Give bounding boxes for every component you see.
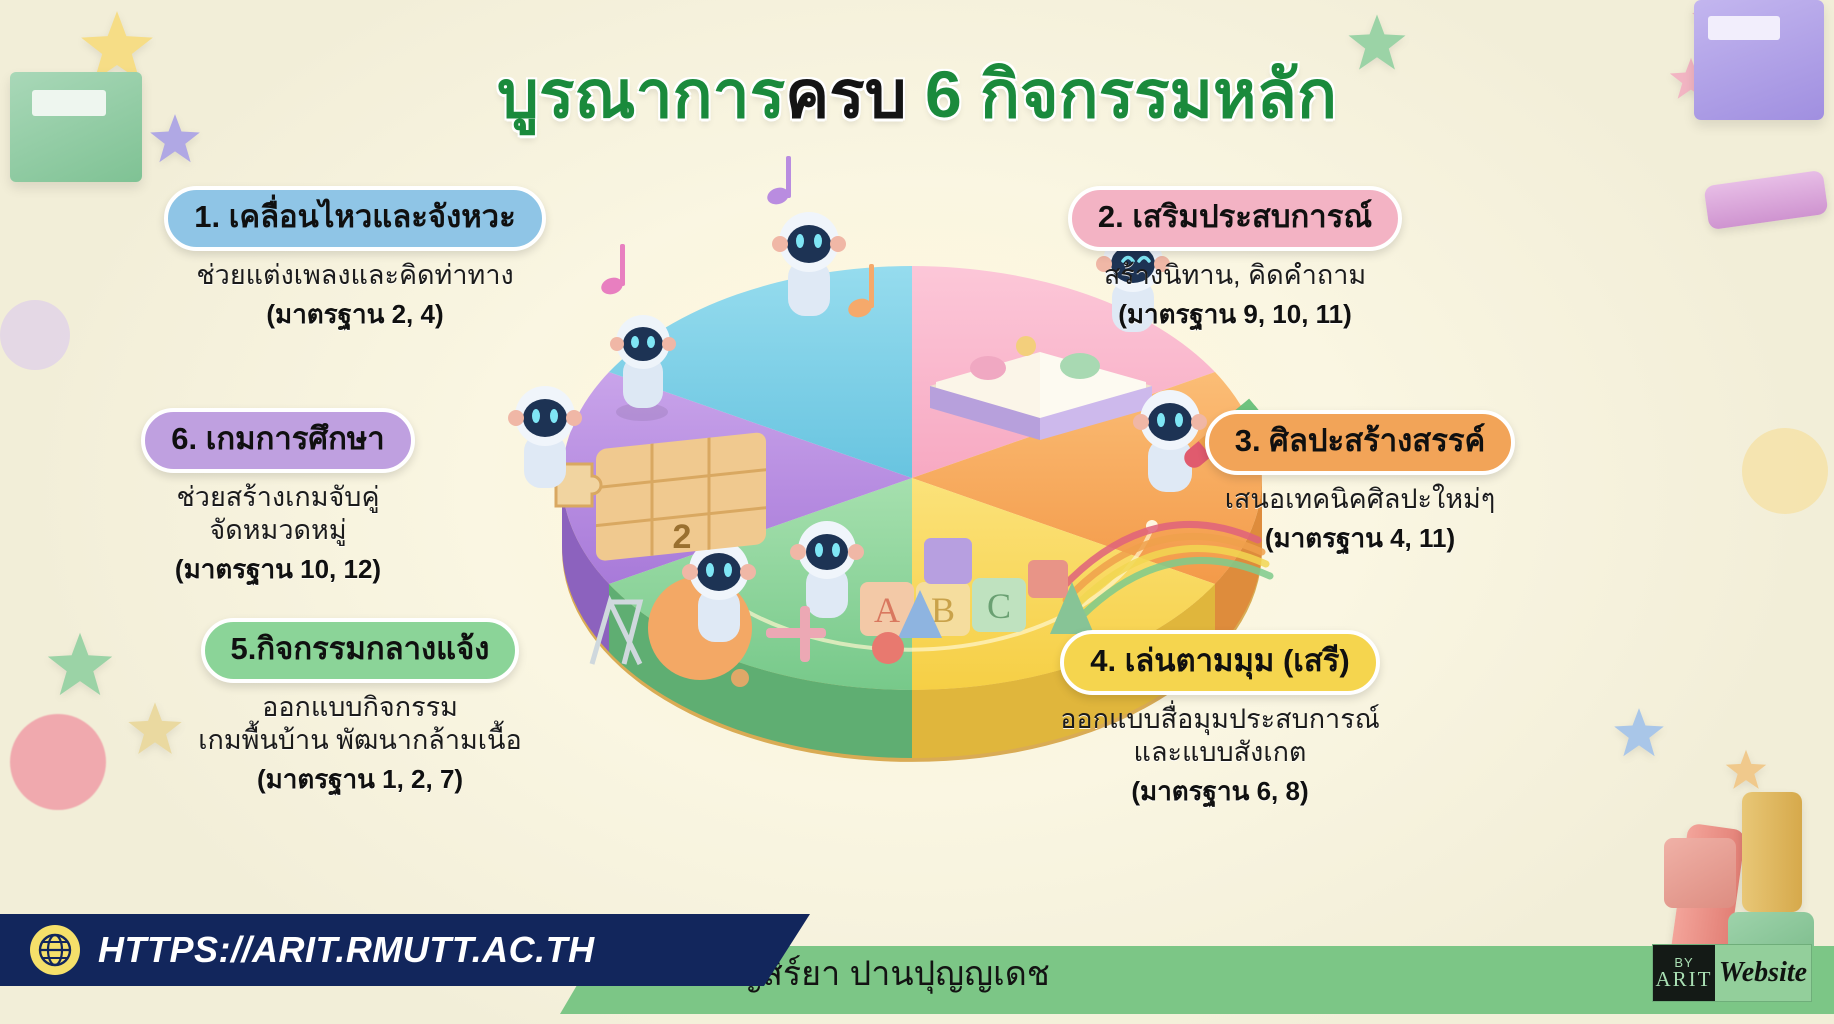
arit-logo-name: ARIT	[1656, 969, 1713, 990]
svg-text:2: 2	[673, 518, 692, 556]
callout-1-pill[interactable]: 1. เคลื่อนไหวและจังหวะ	[164, 186, 545, 251]
arit-logo[interactable]: BY ARIT Website	[1652, 944, 1812, 1002]
callout-3-desc: เสนอเทคนิคศิลปะใหม่ๆ	[1150, 483, 1570, 516]
callout-1-desc: ช่วยแต่งเพลงและคิดท่าทาง	[120, 259, 590, 292]
title-part-2: 6 กิจกรรมหลัก	[907, 57, 1337, 131]
callout-2-desc: สร้างนิทาน, คิดคำถาม	[1000, 259, 1470, 292]
shape-decoration	[1742, 428, 1828, 514]
callout-2[interactable]: 2. เสริมประสบการณ์ สร้างนิทาน, คิดคำถาม …	[1000, 186, 1470, 335]
callout-4[interactable]: 4. เล่นตามมุม (เสรี) ออกแบบสื่อมุมประสบก…	[1000, 630, 1440, 812]
callout-6-desc: ช่วยสร้างเกมจับคู่ จัดหมวดหมู่	[78, 481, 478, 547]
callout-4-standard: (มาตรฐาน 6, 8)	[1000, 771, 1440, 812]
title-highlight: ครบ	[785, 57, 907, 131]
callout-6-pill[interactable]: 6. เกมการศึกษา	[141, 408, 414, 473]
callout-5[interactable]: 5.กิจกรรมกลางแจ้ง ออกแบบกิจกรรม เกมพื้นบ…	[140, 618, 580, 800]
page-title: บูรณาการครบ 6 กิจกรรมหลัก	[497, 42, 1337, 147]
callout-5-standard: (มาตรฐาน 1, 2, 7)	[140, 759, 580, 800]
arit-logo-mark: BY ARIT	[1653, 945, 1715, 1001]
callout-3-pill[interactable]: 3. ศิลปะสร้างสรรค์	[1205, 410, 1516, 475]
title-container: บูรณาการครบ 6 กิจกรรมหลัก	[0, 42, 1834, 147]
arit-logo-website: Website	[1715, 945, 1811, 1001]
callout-5-pill[interactable]: 5.กิจกรรมกลางแจ้ง	[201, 618, 520, 683]
globe-icon	[30, 925, 80, 975]
callout-2-standard: (มาตรฐาน 9, 10, 11)	[1000, 294, 1470, 335]
callout-3-standard: (มาตรฐาน 4, 11)	[1150, 518, 1570, 559]
callout-1[interactable]: 1. เคลื่อนไหวและจังหวะ ช่วยแต่งเพลงและคิ…	[120, 186, 590, 335]
website-banner[interactable]: HTTPS://ARIT.RMUTT.AC.TH	[0, 914, 810, 986]
callout-4-pill[interactable]: 4. เล่นตามมุม (เสรี)	[1060, 630, 1380, 695]
infographic-canvas: บูรณาการครบ 6 กิจกรรมหลัก	[0, 0, 1834, 1024]
callout-1-standard: (มาตรฐาน 2, 4)	[120, 294, 590, 335]
callout-6[interactable]: 6. เกมการศึกษา ช่วยสร้างเกมจับคู่ จัดหมว…	[78, 408, 478, 590]
callout-4-desc: ออกแบบสื่อมุมประสบการณ์ และแบบสังเกต	[1000, 703, 1440, 769]
callout-2-pill[interactable]: 2. เสริมประสบการณ์	[1068, 186, 1402, 251]
shape-decoration	[10, 714, 106, 810]
crayon-decoration	[1704, 170, 1829, 230]
callout-5-desc: ออกแบบกิจกรรม เกมพื้นบ้าน พัฒนากล้ามเนื้…	[140, 691, 580, 757]
callout-3[interactable]: 3. ศิลปะสร้างสรรค์ เสนอเทคนิคศิลปะใหม่ๆ …	[1150, 410, 1570, 559]
website-url[interactable]: HTTPS://ARIT.RMUTT.AC.TH	[98, 929, 595, 971]
callout-6-standard: (มาตรฐาน 10, 12)	[78, 549, 478, 590]
title-part-1: บูรณาการ	[497, 57, 785, 131]
svg-text:C: C	[987, 586, 1011, 626]
shape-decoration	[0, 300, 70, 370]
footer-bar: เบญสิร์ยา ปานปุญญเดช HTTPS://ARIT.RMUTT.…	[0, 892, 1834, 1024]
svg-text:A: A	[874, 590, 900, 630]
